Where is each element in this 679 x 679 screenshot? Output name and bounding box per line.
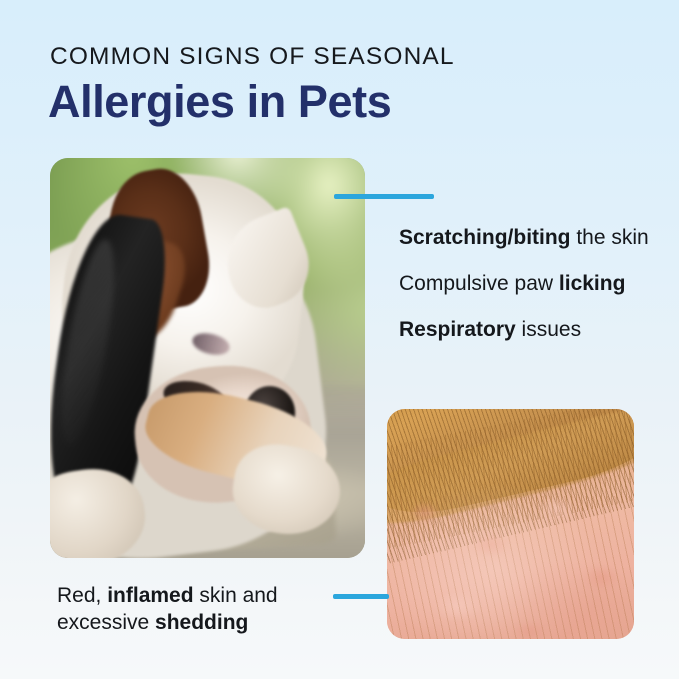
symptom-item-scratching: Scratching/biting the skin (399, 225, 649, 251)
page-title: Allergies in Pets (48, 76, 391, 128)
symptom-bold-text: Respiratory (399, 318, 516, 341)
symptom-normal-text: issues (516, 318, 581, 341)
symptom-bold-text: licking (559, 272, 626, 295)
symptom-normal-text: Compulsive paw (399, 272, 559, 295)
symptom-normal-text: the skin (571, 226, 649, 249)
symptom-item-licking: Compulsive paw licking (399, 271, 649, 297)
symptom-bold-text: Scratching/biting (399, 226, 571, 249)
infographic-poster: COMMON SIGNS OF SEASONAL Allergies in Pe… (0, 0, 679, 679)
connector-line-top (334, 194, 434, 199)
caption-part-1: Red, (57, 584, 107, 607)
bottom-caption: Red, inflamed skin and excessive sheddin… (57, 582, 357, 636)
caption-bold-shedding: shedding (155, 611, 248, 634)
skin-sheen (387, 409, 634, 639)
symptom-item-respiratory: Respiratory issues (399, 317, 649, 343)
dog-photo (50, 158, 365, 558)
symptom-list: Scratching/biting the skin Compulsive pa… (399, 225, 649, 343)
kicker-text: COMMON SIGNS OF SEASONAL (50, 43, 455, 71)
inflamed-skin-photo (387, 409, 634, 639)
caption-bold-inflamed: inflamed (107, 584, 193, 607)
